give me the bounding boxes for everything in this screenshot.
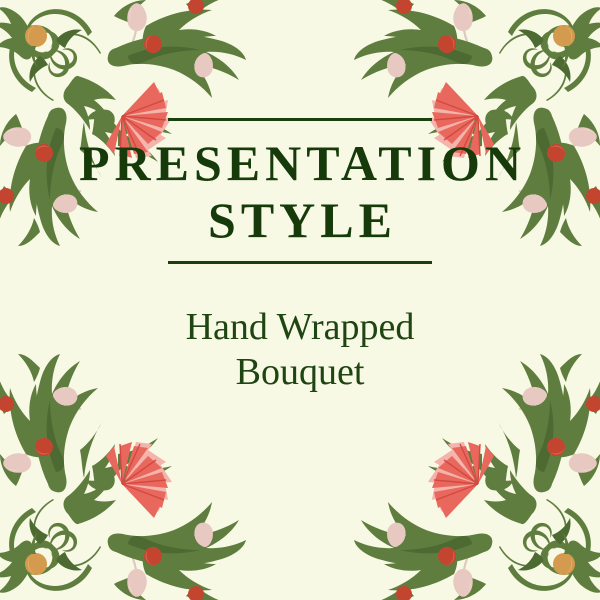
page-title-line-1: PRESENTATION — [0, 135, 600, 192]
page-subtitle: Hand Wrapped Bouquet — [0, 305, 600, 395]
page-title: PRESENTATION STYLE — [0, 135, 600, 249]
presentation-card: PRESENTATION STYLE Hand Wrapped Bouquet — [0, 0, 600, 600]
page-subtitle-line-2: Bouquet — [0, 350, 600, 395]
divider-bottom — [168, 261, 432, 264]
divider-top — [168, 118, 432, 121]
page-title-line-2: STYLE — [0, 192, 600, 249]
title-block: PRESENTATION STYLE — [0, 118, 600, 264]
page-subtitle-line-1: Hand Wrapped — [0, 305, 600, 350]
